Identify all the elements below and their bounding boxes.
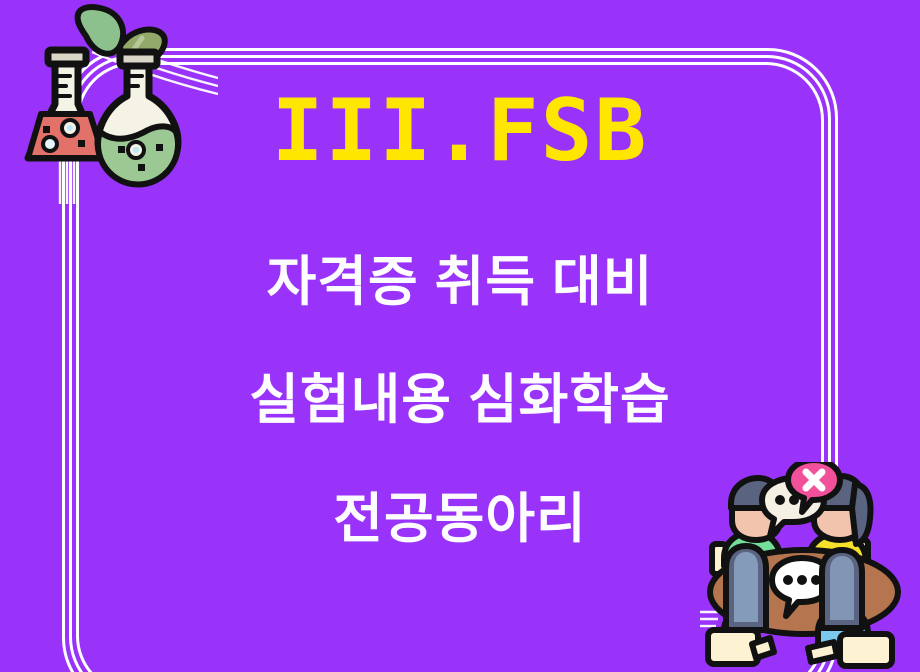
slide-canvas: III.FSB 자격증 취득 대비 실험내용 심화학습 전공동아리 bbox=[0, 0, 920, 672]
subtitle-line-1: 자격증 취득 대비 bbox=[0, 255, 920, 309]
subtitle-line-2: 실험내용 심화학습 bbox=[0, 373, 920, 427]
page-title: III.FSB bbox=[0, 88, 920, 174]
text-stack: III.FSB 자격증 취득 대비 실험내용 심화학습 전공동아리 bbox=[0, 0, 920, 672]
subtitle-line-3: 전공동아리 bbox=[0, 492, 920, 546]
